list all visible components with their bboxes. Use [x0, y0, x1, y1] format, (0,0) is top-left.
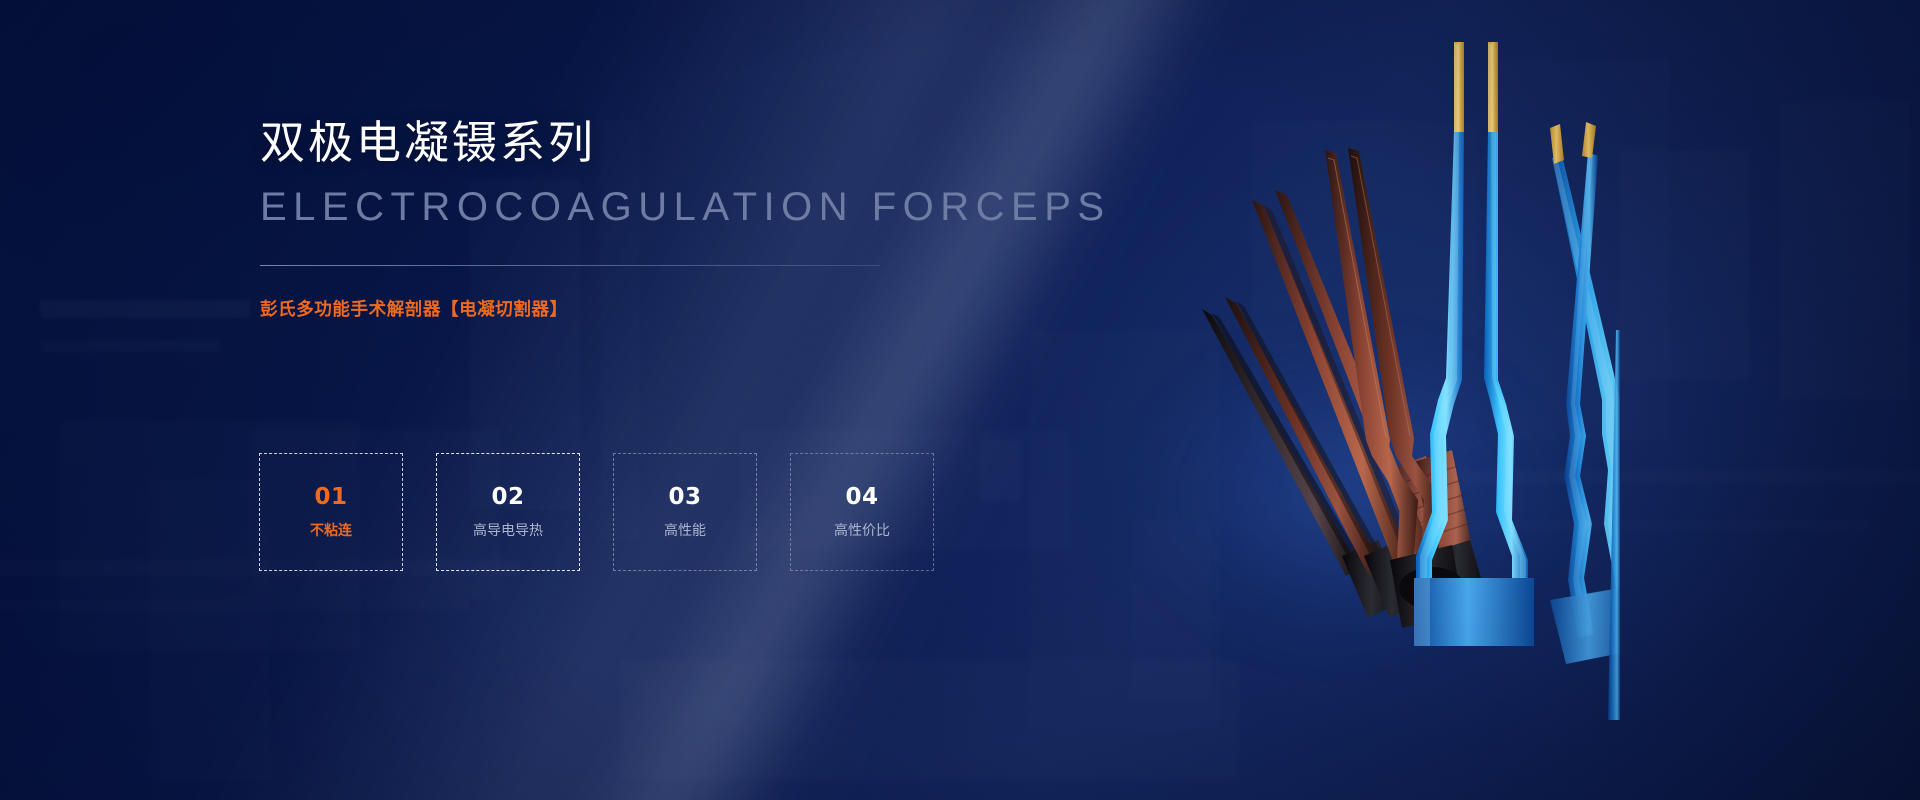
feature-number: 03	[668, 486, 701, 509]
feature-number: 01	[314, 486, 347, 509]
page-subtitle-en: ELECTROCOAGULATION FORCEPS	[260, 187, 1160, 227]
forceps-artwork	[1060, 0, 1620, 720]
feature-box-02[interactable]: 02 高导电导热	[436, 453, 580, 571]
banner-content: 双极电凝镊系列 ELECTROCOAGULATION FORCEPS 彭氏多功能…	[260, 120, 1160, 321]
feature-label: 不粘连	[310, 524, 352, 538]
product-tagline: 彭氏多功能手术解剖器【电凝切割器】	[260, 296, 1160, 321]
feature-label: 高性能	[664, 524, 706, 538]
feature-list: 01 不粘连 02 高导电导热 03 高性能 04 高性价比	[259, 453, 934, 571]
divider	[260, 265, 880, 266]
feature-number: 02	[491, 486, 524, 509]
feature-box-01[interactable]: 01 不粘连	[259, 453, 403, 571]
forceps-cyan-center-2	[1484, 42, 1528, 612]
feature-label: 高性价比	[834, 524, 890, 538]
feature-box-03[interactable]: 03 高性能	[613, 453, 757, 571]
product-banner: 双极电凝镊系列 ELECTROCOAGULATION FORCEPS 彭氏多功能…	[0, 0, 1920, 800]
feature-label: 高导电导热	[473, 524, 543, 538]
feature-box-04[interactable]: 04 高性价比	[790, 453, 934, 571]
page-title: 双极电凝镊系列	[260, 120, 1160, 165]
forceps-hinge-cyan-center	[1414, 578, 1534, 646]
feature-number: 04	[845, 486, 878, 509]
